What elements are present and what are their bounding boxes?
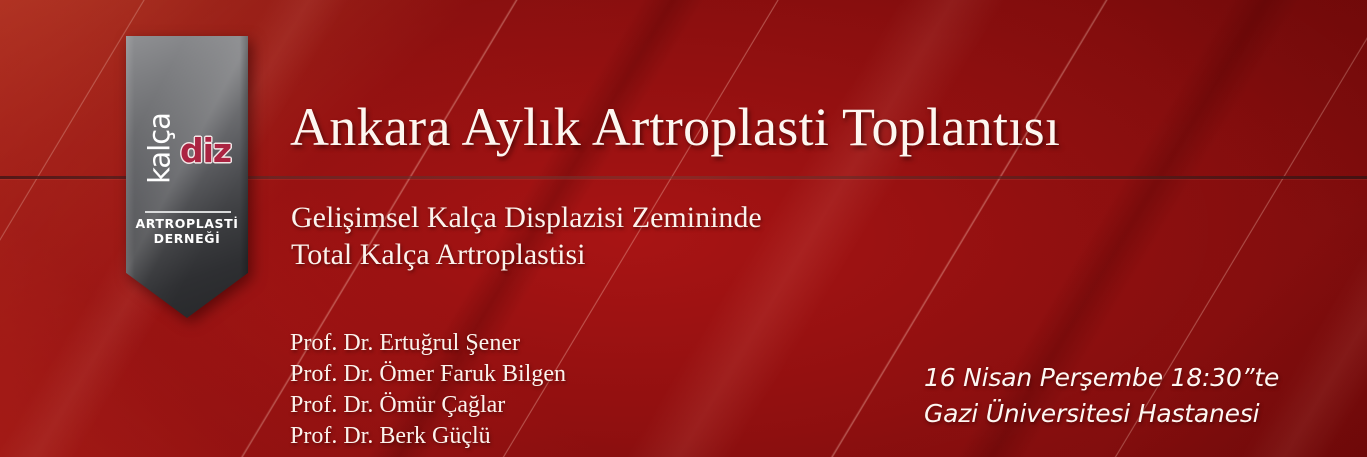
- page-subtitle: Gelişimsel Kalça Displazisi Zemininde To…: [291, 199, 762, 273]
- list-item: Prof. Dr. Ömür Çağlar: [290, 390, 566, 421]
- society-logo-pennant: kalça diz ARTROPLASTİ DERNEĞİ: [126, 36, 248, 318]
- list-item: Prof. Dr. Ertuğrul Şener: [290, 328, 566, 359]
- list-item: Prof. Dr. Berk Güçlü: [290, 421, 566, 452]
- event-banner: kalça diz ARTROPLASTİ DERNEĞİ Ankara Ayl…: [0, 0, 1367, 457]
- logo-rule: [145, 211, 231, 213]
- logo-word-kalca: kalça: [146, 93, 175, 205]
- subtitle-line-1: Gelişimsel Kalça Displazisi Zemininde: [291, 199, 762, 236]
- logo-society-name: ARTROPLASTİ DERNEĞİ: [126, 216, 248, 246]
- page-title: Ankara Aylık Artroplasti Toplantısı: [290, 99, 1060, 156]
- logo-wordmark: kalça diz: [126, 86, 248, 204]
- speaker-list: Prof. Dr. Ertuğrul Şener Prof. Dr. Ömer …: [290, 328, 566, 452]
- subtitle-line-2: Total Kalça Artroplastisi: [291, 236, 762, 273]
- event-datetime: 16 Nisan Perşembe 18:30”te: [924, 360, 1279, 396]
- event-details: 16 Nisan Perşembe 18:30”te Gazi Üniversi…: [924, 360, 1279, 432]
- list-item: Prof. Dr. Ömer Faruk Bilgen: [290, 359, 566, 390]
- logo-word-diz: diz: [180, 134, 231, 167]
- logo-society-line-2: DERNEĞİ: [126, 231, 248, 246]
- event-venue: Gazi Üniversitesi Hastanesi: [924, 396, 1279, 432]
- logo-society-line-1: ARTROPLASTİ: [126, 216, 248, 231]
